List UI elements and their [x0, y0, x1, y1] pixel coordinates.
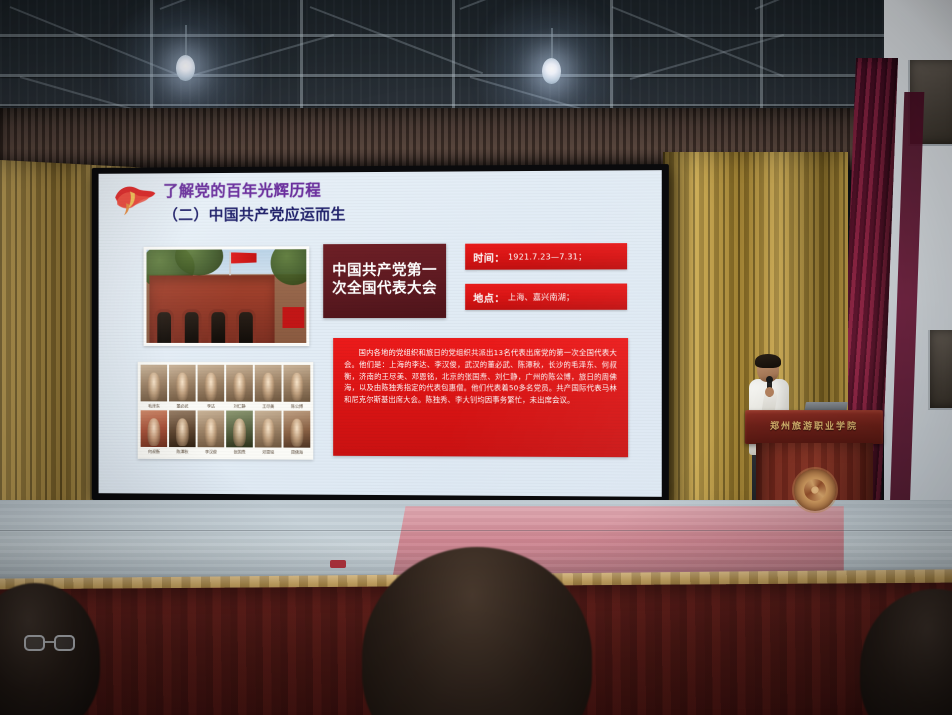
portrait-row-1: 毛泽东 董必武 李达 刘仁静 王尽美 陈公博 — [141, 365, 311, 411]
podium-top-surface: 郑州旅游职业学院 — [745, 410, 883, 444]
portrait-image — [255, 365, 282, 402]
conference-place-box: 地点： 上海、嘉兴南湖； — [465, 284, 627, 310]
slide-body-paragraph: 国内各地的党组织和旅日的党组织共派出13名代表出席党的第一次全国代表大会。他们是… — [333, 338, 628, 457]
presenter-hair — [755, 354, 781, 368]
time-value: 1921.7.23—7.31； — [508, 251, 586, 262]
place-value: 上海、嘉兴南湖； — [508, 291, 574, 302]
truss-column-2 — [300, 0, 303, 110]
portrait-image — [198, 410, 225, 447]
portrait-image — [141, 365, 167, 402]
portrait-cell: 陈公博 — [283, 365, 310, 411]
slide-title-line1: 了解党的百年光辉历程 — [163, 178, 346, 201]
building-door-2 — [184, 312, 198, 343]
eyeglass-lens-right — [54, 635, 75, 651]
portrait-cell: 李达 — [198, 365, 225, 411]
place-label: 地点： — [473, 289, 505, 304]
portrait-cell: 张国焘 — [226, 411, 253, 457]
truss-beam-horizontal-3 — [0, 104, 885, 106]
portrait-image — [169, 410, 196, 447]
portrait-image — [141, 410, 167, 447]
truss-column-3 — [452, 0, 455, 110]
portrait-cell: 何叔衡 — [141, 410, 167, 456]
eyeglass-lens-left — [24, 635, 45, 651]
auditorium-scene: 了解党的百年光辉历程 （二）中国共产党应运而生 — [0, 0, 952, 715]
portrait-cell: 毛泽东 — [141, 365, 167, 411]
portrait-row-2: 何叔衡 陈潭秋 李汉俊 张国焘 邓恩铭 周佛海 — [141, 410, 311, 456]
portrait-image — [283, 365, 310, 402]
led-display-screen[interactable]: 了解党的百年光辉历程 （二）中国共产党应运而生 — [92, 164, 669, 504]
truss-beam-horizontal-1 — [0, 34, 885, 37]
eyeglass-bridge — [45, 641, 54, 643]
portrait-name: 张国焘 — [226, 447, 253, 456]
pendant-lamp-right-icon — [542, 58, 561, 84]
slide-title-group: 了解党的百年光辉历程 （二）中国共产党应运而生 — [163, 178, 346, 225]
truss-column-5 — [760, 0, 763, 110]
portrait-name: 何叔衡 — [141, 447, 167, 456]
audience-eyeglasses-icon — [24, 635, 76, 655]
portrait-image — [169, 365, 196, 402]
congress-site-photo-image — [147, 249, 307, 343]
delegates-portrait-grid: 毛泽东 董必武 李达 刘仁静 王尽美 陈公博 何叔衡 陈潭秋 李汉俊 张国焘 邓… — [138, 362, 314, 460]
party-flame-ribbon-icon — [112, 183, 157, 217]
portrait-image — [226, 365, 253, 402]
portrait-name: 周佛海 — [283, 448, 310, 457]
portrait-image — [198, 365, 225, 402]
portrait-image — [226, 411, 253, 448]
building-door-4 — [239, 312, 253, 343]
small-red-object-on-floor — [330, 560, 346, 568]
portrait-name: 李汉俊 — [198, 447, 225, 456]
site-signboard — [282, 307, 304, 328]
portrait-name: 陈公博 — [283, 402, 310, 411]
portrait-cell: 王尽美 — [255, 365, 282, 411]
conference-title-box: 中国共产党第一次全国代表大会 — [323, 244, 446, 318]
wall-window-lower — [928, 330, 952, 410]
institution-seal-icon — [794, 469, 836, 511]
presentation-slide: 了解党的百年光辉历程 （二）中国共产党应运而生 — [99, 170, 662, 497]
congress-site-photo — [144, 246, 310, 346]
portrait-cell: 周佛海 — [283, 411, 310, 457]
portrait-name: 王尽美 — [255, 402, 282, 411]
portrait-image — [255, 411, 282, 448]
time-label: 时间： — [473, 249, 505, 264]
floor-seam-line — [0, 530, 952, 531]
portrait-cell: 李汉俊 — [198, 410, 225, 456]
china-flag-icon — [231, 252, 257, 263]
portrait-name: 李达 — [198, 402, 225, 411]
portrait-cell: 刘仁静 — [226, 365, 253, 411]
seal-spiral-glyph — [804, 479, 826, 501]
conference-time-box: 时间： 1921.7.23—7.31； — [465, 243, 627, 270]
portrait-cell: 陈潭秋 — [169, 410, 196, 456]
slide-title-line2: （二）中国共产党应运而生 — [163, 203, 346, 225]
podium-institution-title: 郑州旅游职业学院 — [745, 419, 883, 432]
building-door-1 — [157, 312, 171, 343]
presenter-hand — [765, 387, 774, 397]
tree-right-icon — [271, 249, 306, 285]
pendant-lamp-left-icon — [176, 55, 195, 81]
building-door-3 — [212, 312, 226, 343]
portrait-image — [283, 411, 310, 448]
portrait-cell: 邓恩铭 — [255, 411, 282, 457]
portrait-cell: 董必武 — [169, 365, 196, 411]
portrait-name: 邓恩铭 — [255, 447, 282, 456]
screen-surface: 了解党的百年光辉历程 （二）中国共产党应运而生 — [99, 170, 662, 497]
portrait-name: 董必武 — [169, 401, 196, 410]
shikumen-building — [150, 276, 275, 343]
portrait-name: 毛泽东 — [141, 401, 167, 410]
portrait-name: 刘仁静 — [226, 402, 253, 411]
portrait-name: 陈潭秋 — [169, 447, 196, 456]
truss-column-4 — [610, 0, 613, 110]
truss-beam-horizontal-2 — [0, 74, 885, 77]
truss-column-1 — [150, 0, 153, 110]
